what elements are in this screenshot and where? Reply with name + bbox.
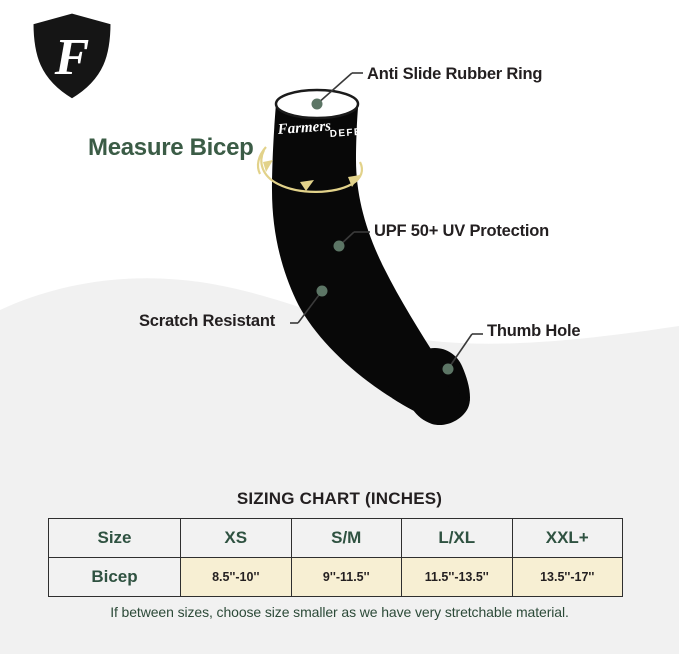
table-header-cell-size: Size xyxy=(49,519,181,558)
table-header-cell-xs: XS xyxy=(181,519,292,558)
product-infographic: F Farmers DEFENSE xyxy=(0,0,679,654)
table-header-cell-xxl: XXL+ xyxy=(512,519,623,558)
sleeve-body xyxy=(272,104,470,425)
callout-label-anti-slide-rubber-ring: Anti Slide Rubber Ring xyxy=(367,65,542,84)
table-cell-bicep-xs: 8.5''-10'' xyxy=(181,558,292,597)
marker-scratch-resistant xyxy=(317,286,328,297)
table-header-row: Size XS S/M L/XL XXL+ xyxy=(49,519,623,558)
callout-label-upf-protection: UPF 50+ UV Protection xyxy=(374,222,549,241)
table-cell-bicep-sm: 9''-11.5'' xyxy=(291,558,402,597)
table-header-cell-sm: S/M xyxy=(291,519,402,558)
callout-label-thumb-hole: Thumb Hole xyxy=(487,322,580,341)
table-cell-bicep-lxl: 11.5''-13.5'' xyxy=(402,558,513,597)
marker-anti-slide-rubber-ring xyxy=(312,99,323,110)
sizing-chart-table: Size XS S/M L/XL XXL+ Bicep 8.5''-10'' 9… xyxy=(48,518,623,597)
sizing-chart-footnote: If between sizes, choose size smaller as… xyxy=(0,604,679,620)
marker-thumb-hole xyxy=(443,364,454,375)
callout-label-measure-bicep: Measure Bicep xyxy=(88,134,254,162)
table-header-cell-lxl: L/XL xyxy=(402,519,513,558)
table-cell-bicep-xxl: 13.5''-17'' xyxy=(512,558,623,597)
table-row: Bicep 8.5''-10'' 9''-11.5'' 11.5''-13.5'… xyxy=(49,558,623,597)
callout-label-scratch-resistant: Scratch Resistant xyxy=(139,312,275,331)
marker-upf-protection xyxy=(334,241,345,252)
table-row-label-bicep: Bicep xyxy=(49,558,181,597)
sizing-chart-title: SIZING CHART (INCHES) xyxy=(0,489,679,509)
